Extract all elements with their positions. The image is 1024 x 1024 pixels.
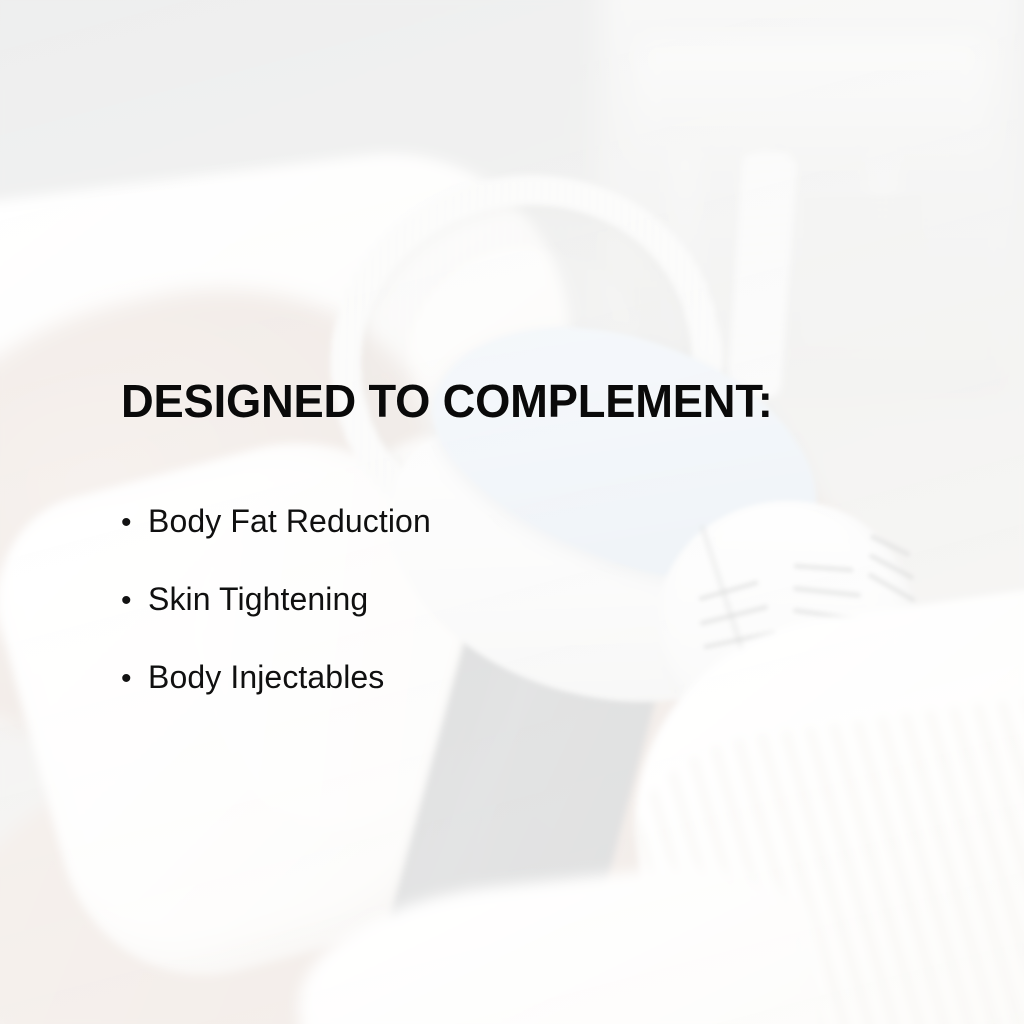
list-item-label: Body Injectables	[148, 661, 384, 693]
list-item: • Body Injectables	[121, 661, 431, 739]
list-item: • Body Fat Reduction	[121, 505, 431, 583]
text-overlay: DESIGNED TO COMPLEMENT: • Body Fat Reduc…	[0, 0, 1024, 1024]
bullet-marker-icon: •	[121, 664, 148, 694]
bullet-marker-icon: •	[121, 586, 148, 616]
list-item-label: Body Fat Reduction	[148, 505, 431, 537]
promo-graphic: DESIGNED TO COMPLEMENT: • Body Fat Reduc…	[0, 0, 1024, 1024]
bullet-marker-icon: •	[121, 508, 148, 538]
list-item: • Skin Tightening	[121, 583, 431, 661]
benefits-list: • Body Fat Reduction • Skin Tightening •…	[121, 505, 431, 739]
page-title: DESIGNED TO COMPLEMENT:	[121, 378, 909, 424]
list-item-label: Skin Tightening	[148, 583, 368, 615]
